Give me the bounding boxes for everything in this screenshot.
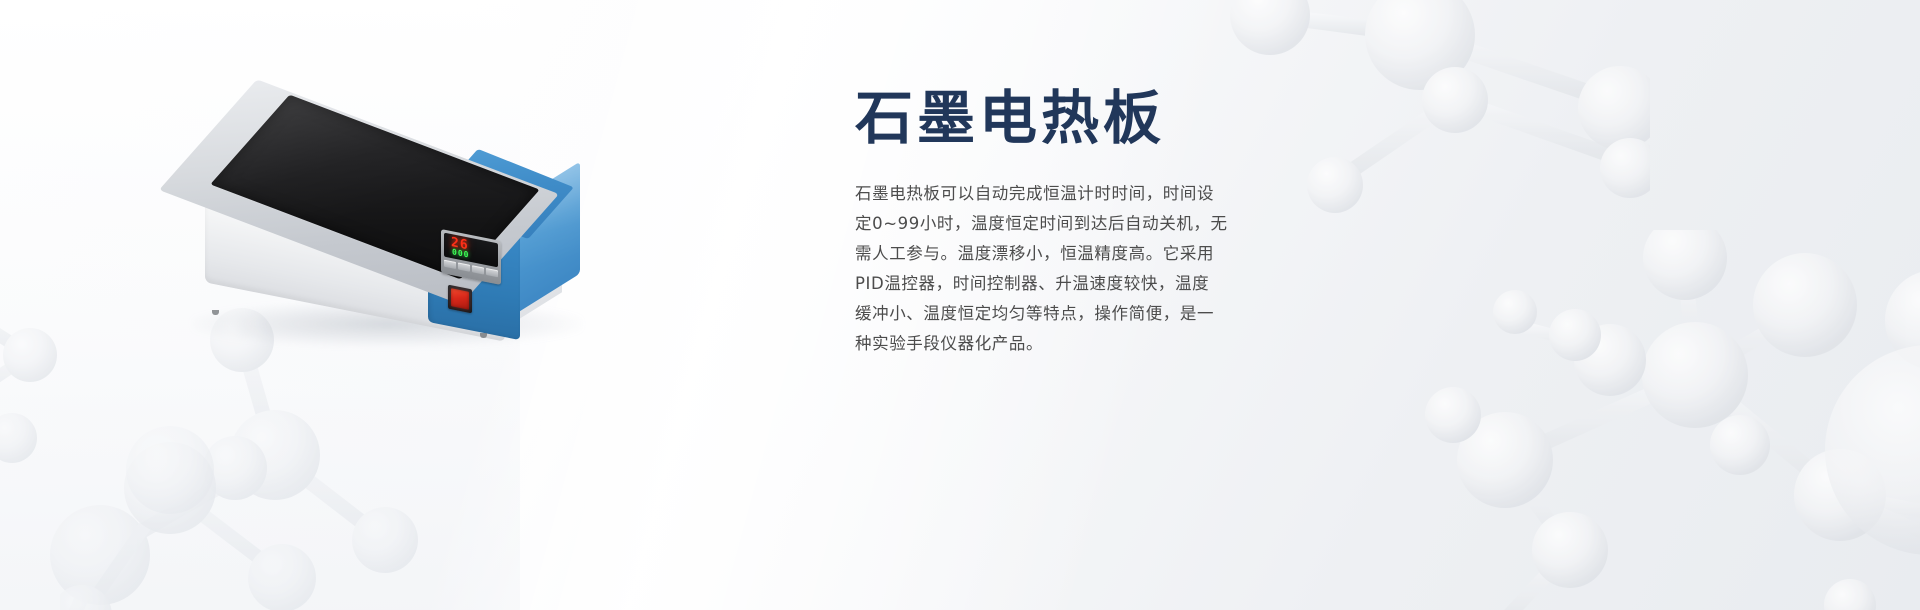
- molecule-ball-midleft: [90, 390, 250, 550]
- molecule-cluster-bottom-left: [60, 430, 380, 610]
- power-switch[interactable]: [448, 285, 472, 314]
- product-image-graphite-hot-plate: 26 000: [150, 105, 620, 365]
- description-line: 种实验手段仪器化产品。: [855, 329, 1215, 359]
- product-banner: 26 000 石墨电热板 石墨电热板可以自动完成恒温计时时间，时间设 定0~99…: [0, 0, 1920, 610]
- controller-button-down[interactable]: [472, 265, 484, 274]
- banner-text-column: 石墨电热板 石墨电热板可以自动完成恒温计时时间，时间设 定0~99小时，温度恒定…: [855, 88, 1275, 359]
- molecule-cluster-far-right: [1790, 330, 1920, 610]
- controller-button-set[interactable]: [444, 260, 456, 269]
- molecule-cluster-right: [1420, 230, 1920, 610]
- page-title: 石墨电热板: [855, 88, 1275, 149]
- controller-button-up[interactable]: [486, 268, 498, 277]
- controller-button-shift[interactable]: [458, 262, 470, 271]
- description-line: 缓冲小、温度恒定均匀等特点，操作简便，是一: [855, 299, 1215, 329]
- power-switch-rocker[interactable]: [451, 288, 469, 310]
- product-foot-left: [212, 310, 219, 315]
- description-line: 需人工参与。温度漂移小，恒温精度高。它采用: [855, 239, 1215, 269]
- product-foot-right: [480, 333, 487, 338]
- description-line: 石墨电热板可以自动完成恒温计时时间，时间设: [855, 179, 1215, 209]
- set-value-readout: 000: [452, 248, 469, 259]
- product-description: 石墨电热板可以自动完成恒温计时时间，时间设 定0~99小时，温度恒定时间到达后自…: [855, 179, 1215, 359]
- description-line: PID温控器，时间控制器、升温速度较快，温度: [855, 269, 1215, 299]
- description-line: 定0~99小时，温度恒定时间到达后自动关机，无: [855, 209, 1215, 239]
